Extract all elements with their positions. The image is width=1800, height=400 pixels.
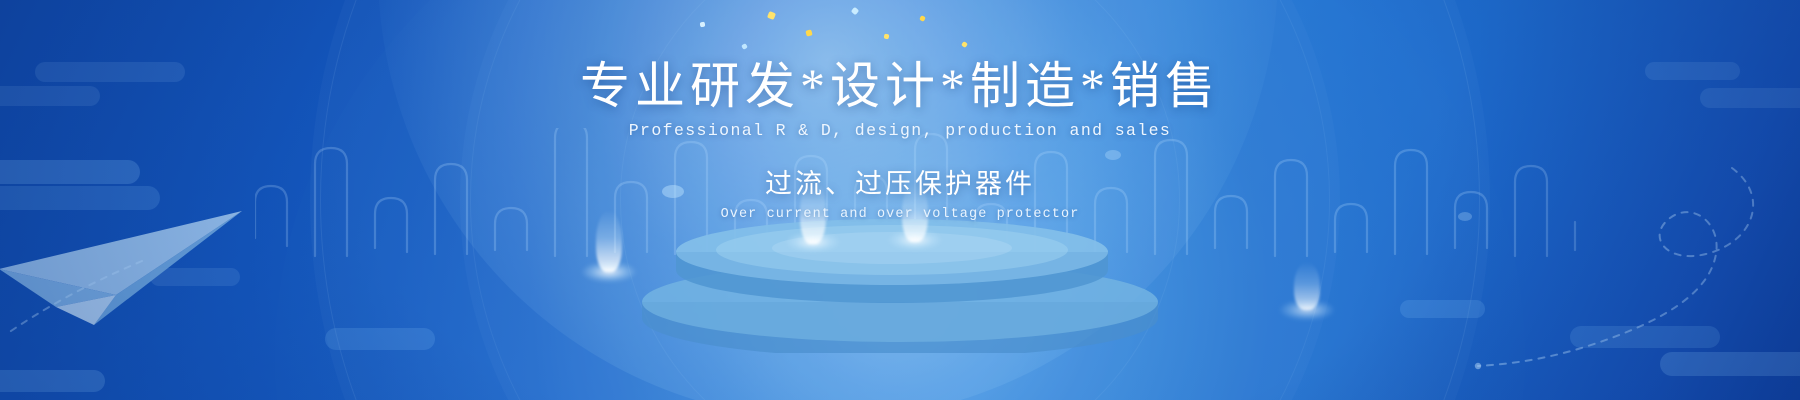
subheadline-chinese: 过流、过压保护器件 bbox=[0, 162, 1800, 201]
hero-banner: 专业研发*设计*制造*销售 Professional R & D, design… bbox=[0, 0, 1800, 400]
headline-chinese: 专业研发*设计*制造*销售 bbox=[0, 58, 1800, 114]
headline-english: Professional R & D, design, production a… bbox=[0, 121, 1800, 140]
subheadline-english: Over current and over voltage protector bbox=[0, 207, 1800, 222]
banner-text-block: 专业研发*设计*制造*销售 Professional R & D, design… bbox=[0, 58, 1800, 222]
